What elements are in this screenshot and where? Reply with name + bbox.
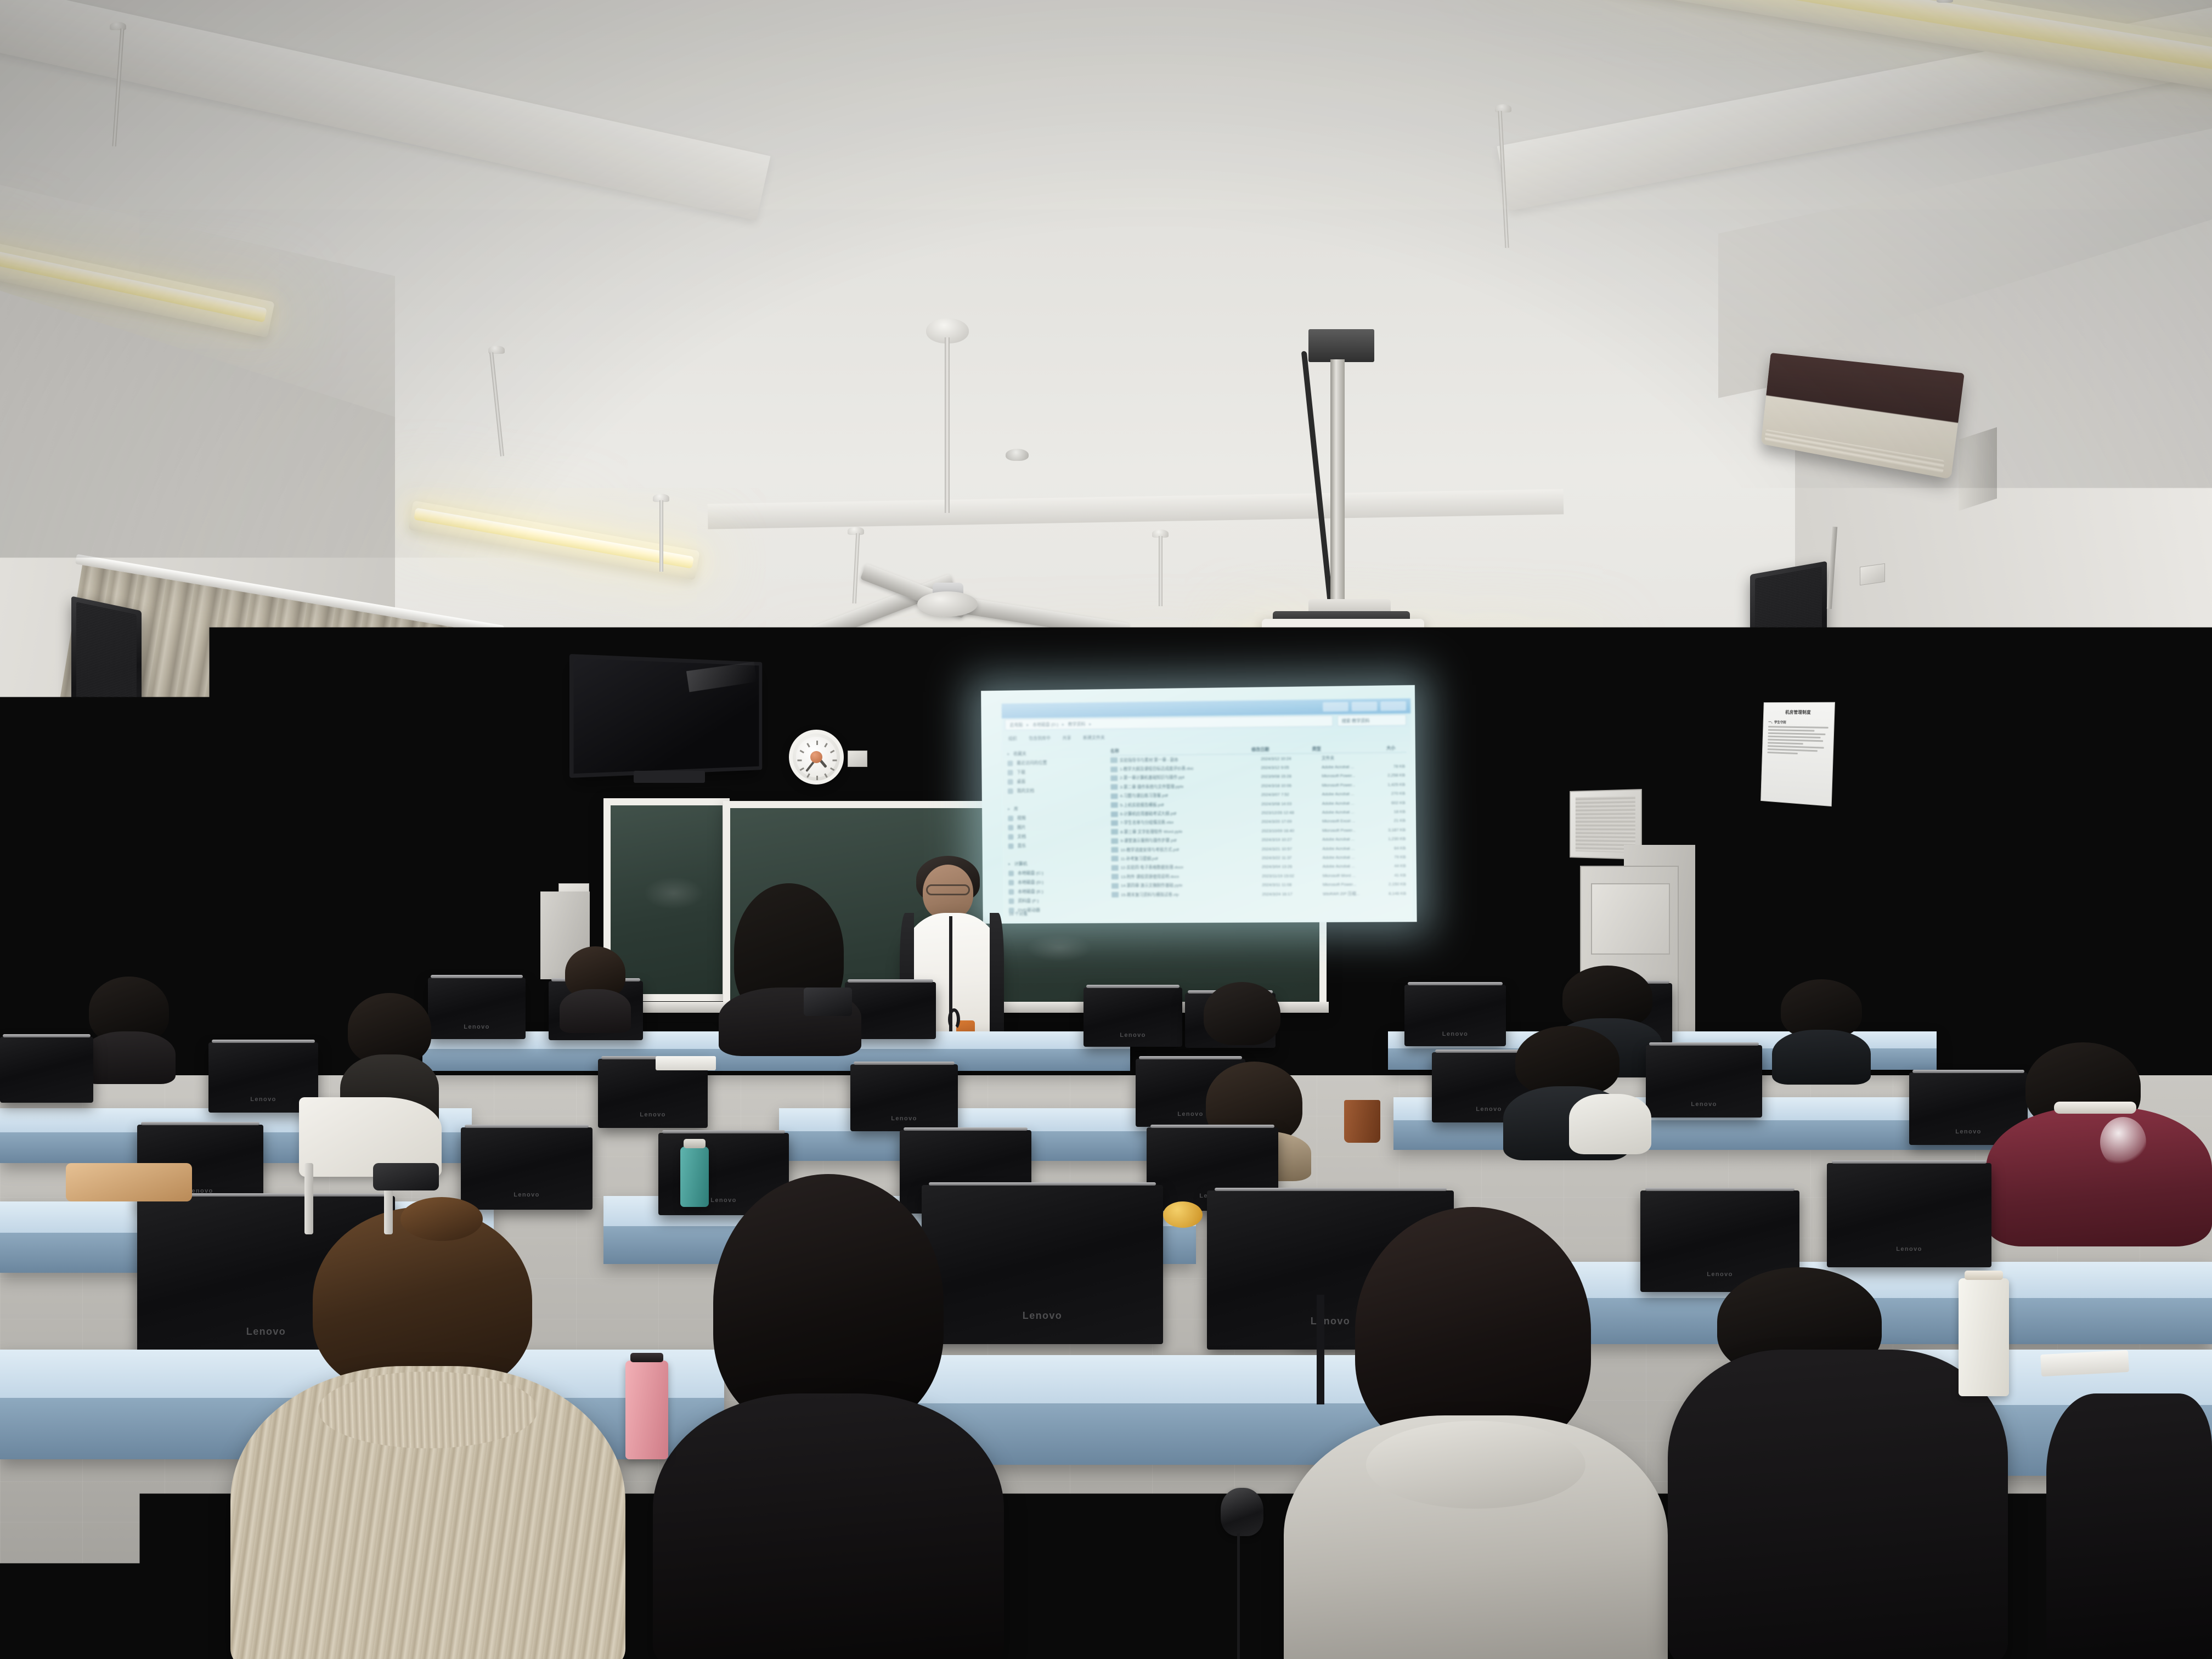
breadcrumb-separator: ▸ (1026, 722, 1029, 727)
nav-item-label[interactable]: 本地磁盘 (D:) (1018, 879, 1043, 885)
file-name: 4-习题与课后练习答案.pdf (1120, 792, 1261, 799)
file-size: 2,150 KB (1374, 882, 1406, 887)
toolbar-organize[interactable]: 组织 (1008, 735, 1017, 741)
chalk-smudge (1026, 934, 1092, 962)
monitor-brand-logo: Lenovo (250, 1096, 276, 1103)
file-icon (1111, 793, 1118, 799)
nav-libraries-label[interactable]: 库 (1014, 806, 1018, 812)
projection-screen: 此电脑 ▸ 本地磁盘 (D:) ▸ 教学资料 ▸ 搜索 教学资料 组织 包含到库… (981, 685, 1417, 924)
breadcrumb-separator: ▸ (1089, 721, 1091, 726)
close-button[interactable] (1380, 701, 1406, 711)
file-list-pane: 名称 修改日期 类型 大小 实验指导书与素材 第一章 - 副本2024/3/12… (1108, 741, 1413, 921)
wall-switch-plate (848, 751, 867, 767)
vent-louvers-icon (1576, 796, 1635, 853)
rod-cap-7 (1937, 0, 1953, 3)
nav-item-label[interactable]: 文档 (1017, 833, 1026, 839)
chalk-smudge (644, 877, 704, 910)
monitor-brand-logo: Lenovo (1476, 1106, 1502, 1113)
file-name: 9-课堂演示案例与操作步骤.pdf (1120, 837, 1262, 844)
fan-downrod (945, 337, 950, 513)
ac-mounting-bracket (1959, 427, 1997, 511)
poster-text-line (1768, 748, 1818, 752)
file-type: Adobe Acrobat ... (1323, 855, 1374, 860)
file-name: 7-学生名单与分组情况表.xlsx (1120, 819, 1262, 826)
paper-sheet (656, 1056, 716, 1070)
clock-center-cap (810, 751, 822, 763)
nav-item: 资料盘 (F:) (1009, 896, 1110, 906)
monitor-brand-logo: Lenovo (1691, 1101, 1717, 1108)
file-date: 2024/3/19 10:27 (1262, 837, 1323, 843)
file-size: 21 KB (1373, 818, 1406, 823)
monitor-brand-logo: Lenovo (1120, 1032, 1146, 1039)
file-size (1373, 757, 1405, 758)
file-icon (1110, 785, 1118, 790)
file-size: 602 KB (1373, 800, 1406, 805)
small-device (804, 988, 852, 1016)
hoodie-hood (1366, 1421, 1585, 1509)
explorer-body: ▸收藏夹 最近访问的位置 下载 桌面 我的文档 ▸库 视频 图片 文档 音乐 ▸… (1002, 741, 1412, 922)
bottle-cap[interactable] (1965, 1271, 2003, 1280)
keyboard-edge[interactable] (373, 1163, 439, 1190)
monitor-top-edge (212, 1040, 315, 1043)
poster-text-line (1768, 736, 1820, 738)
file-name: 14-第四章 演示文稿制作基础.pptx (1121, 882, 1262, 888)
nav-item: 下载 (1008, 767, 1109, 777)
file-size: 2,258 KB (1373, 773, 1405, 778)
file-date: 2024/3/08 14:03 (1261, 801, 1322, 806)
file-date: 2024/3/22 11:37 (1262, 855, 1323, 860)
pink-tumbler[interactable] (625, 1361, 668, 1459)
monitor-far-6: Lenovo (1404, 985, 1506, 1046)
folder-icon (1110, 758, 1118, 763)
student-right-front-edge (2046, 1393, 2212, 1659)
nav-item-label[interactable]: 桌面 (1017, 778, 1025, 785)
light-hanger-rod-3 (659, 500, 663, 572)
file-date: 2024/3/04 13:26 (1262, 864, 1323, 870)
file-name: 5-上机实验报告模板.pdf (1120, 801, 1262, 808)
file-size: 18 KB (1373, 809, 1406, 815)
file-type: Adobe Acrobat ... (1322, 764, 1373, 770)
chevron-right-icon[interactable]: ▸ (1008, 806, 1010, 811)
nav-item-label[interactable]: 本地磁盘 (C:) (1018, 870, 1043, 876)
nav-item: 本地磁盘 (E:) (1008, 887, 1109, 896)
chair-leg (304, 1163, 313, 1234)
monitor-mid-3: Lenovo (850, 1064, 958, 1131)
maximize-button[interactable] (1352, 702, 1378, 712)
monitor-top-edge (1649, 1042, 1758, 1046)
file-name: 11-补考复习提纲.pdf (1120, 855, 1262, 862)
smoke-detector-icon (1006, 449, 1029, 461)
jacket-collar-stripe (2054, 1102, 2136, 1114)
file-row[interactable]: 15-期末复习资料与模拟试卷.zip2024/3/24 16:17WinRAR … (1111, 889, 1408, 899)
monitor-top-edge (662, 1130, 785, 1133)
desktop-icon (1008, 779, 1013, 785)
poster-text-line (1768, 752, 1798, 754)
nav-item: 本地磁盘 (D:) (1008, 877, 1109, 887)
clock-tick (830, 768, 834, 771)
nav-favorites-label[interactable]: 收藏夹 (1013, 751, 1026, 757)
file-name: 13-附件 课程资源使用说明.docx (1121, 873, 1262, 880)
tan-pencil-case[interactable] (66, 1163, 192, 1201)
file-icon (1111, 811, 1118, 817)
monitor-top-edge (3, 1034, 91, 1037)
clock-tick (833, 760, 837, 761)
file-name: 实验指导书与素材 第一章 - 副本 (1120, 755, 1261, 763)
monitor-top-edge (1086, 985, 1179, 988)
file-type: Microsoft Power... (1322, 782, 1373, 788)
file-date: 2023/10/09 16:40 (1261, 828, 1322, 833)
student-top (82, 1031, 176, 1084)
wall-panel-left (496, 844, 538, 896)
monitor-top-edge (854, 1062, 955, 1065)
drive-e-icon (1008, 889, 1014, 894)
pictures-icon (1008, 825, 1013, 830)
wall-hook-bracket (1575, 667, 1635, 695)
nav-spacer (1008, 794, 1109, 804)
monitor-top-edge (1645, 1188, 1795, 1191)
file-icon (1110, 775, 1118, 781)
file-icon (1111, 883, 1119, 888)
tumbler-lid[interactable] (684, 1139, 706, 1148)
fan-hub (917, 591, 978, 617)
student-jacket (1772, 1030, 1871, 1085)
monitor-brand-logo: Lenovo (1896, 1246, 1922, 1252)
wall-speaker-right (1750, 561, 1827, 698)
file-date: 2024/3/21 10:57 (1262, 846, 1323, 851)
paper-sheet-right (2040, 1350, 2129, 1376)
monitor-front-6: Lenovo (1827, 1163, 1991, 1267)
file-date: 2023/11/19 15:02 (1262, 873, 1323, 878)
breadcrumb-separator: ▸ (1062, 721, 1064, 726)
nav-item-label[interactable]: 图片 (1017, 825, 1026, 831)
file-type: Microsoft Excel ... (1322, 819, 1373, 824)
nav-spacer (1008, 850, 1109, 859)
clock-tick (816, 776, 818, 780)
breadcrumb-1[interactable]: 本地磁盘 (D:) (1032, 721, 1058, 727)
student-back-left (719, 883, 861, 1048)
file-type: 文件夹 (1322, 754, 1373, 761)
file-size: 3,187 KB (1373, 827, 1406, 833)
small-wall-clock (1418, 724, 1442, 748)
file-type: Adobe Acrobat ... (1322, 791, 1373, 797)
student-top (560, 989, 631, 1033)
drive-d-icon (1008, 879, 1014, 885)
tumbler-lid[interactable] (630, 1353, 663, 1362)
monitor-mid-6: Lenovo (1646, 1045, 1762, 1118)
wall-clock (789, 730, 844, 785)
file-icon (1111, 892, 1119, 898)
student-dark-jacket (1668, 1350, 2008, 1659)
file-size: 64 KB (1373, 845, 1406, 850)
speaker-grill-icon (1755, 567, 1822, 692)
mouse-cable (1237, 1533, 1240, 1659)
file-name: 15-期末复习资料与模拟试卷.zip (1121, 891, 1262, 898)
monitor-top-edge (1139, 1056, 1242, 1059)
column-header-name[interactable]: 名称 (1110, 747, 1251, 754)
file-date: 2024/3/11 11:08 (1262, 882, 1323, 888)
monitor-top-edge (1150, 1125, 1274, 1128)
toolbar-share[interactable]: 共享 (1063, 735, 1071, 741)
clock-tick (824, 773, 828, 777)
wall-poster: 机房管理制度 一、学生守则 (1760, 702, 1835, 806)
file-size: 8,146 KB (1374, 891, 1406, 896)
clock-tick (798, 760, 802, 761)
nav-item: 最近访问的位置 (1007, 758, 1108, 768)
file-type: Microsoft Power... (1322, 773, 1373, 778)
clock-face (796, 737, 837, 777)
speaker-grill-icon (76, 602, 137, 720)
wall-outlet-plate-right[interactable] (1860, 563, 1885, 585)
student-mid-center (1196, 982, 1286, 1053)
monitor-brand-logo: Lenovo (464, 1024, 490, 1030)
nav-item: 桌面 (1008, 776, 1109, 787)
file-type: WinRAR ZIP 压缩... (1323, 890, 1374, 897)
file-type: Adobe Acrobat ... (1322, 845, 1373, 851)
nav-group-header: ▸计算机 (1008, 859, 1109, 868)
column-header-date[interactable]: 修改日期 (1251, 746, 1312, 753)
clock-tick (800, 750, 804, 754)
nav-item: 视频 (1008, 812, 1109, 822)
chevron-right-icon[interactable]: ▸ (1007, 752, 1009, 757)
documents-library-icon (1008, 834, 1014, 839)
clock-tick (830, 750, 834, 754)
file-rows-container: 实验指导书与素材 第一章 - 副本2024/3/12 10:24文件夹1-教学大… (1110, 753, 1408, 899)
student-front-left (230, 1207, 625, 1659)
clock-tick (816, 741, 818, 745)
brown-cup[interactable] (1344, 1100, 1380, 1143)
file-type: Adobe Acrobat ... (1322, 837, 1373, 842)
file-icon (1110, 766, 1118, 772)
file-date: 2024/3/18 10:06 (1261, 783, 1322, 788)
classroom-photo: 机房管理制度 一、学生守则 此电脑 ▸ 本地磁盘 (D:) (0, 0, 2212, 1659)
file-type: Microsoft Power... (1323, 882, 1374, 887)
monitor-brand-logo: Lenovo (640, 1111, 666, 1118)
search-box[interactable]: 搜索 教学资料 (1338, 714, 1407, 726)
breadcrumb-0[interactable]: 此电脑 (1010, 721, 1023, 727)
wall-tv[interactable] (569, 654, 762, 778)
nav-item-label[interactable]: 资料盘 (F:) (1018, 898, 1039, 904)
student-white-hood (1569, 1094, 1651, 1154)
breadcrumb-2[interactable]: 教学资料 (1068, 721, 1086, 727)
tv-wall-bracket (634, 771, 705, 783)
monitor-front-2: Lenovo (461, 1127, 592, 1210)
student-black-jacket (653, 1393, 1004, 1659)
file-size: 270 KB (1373, 791, 1405, 797)
monitor-top-edge (465, 1125, 589, 1128)
student-front-right (1284, 1207, 1668, 1659)
nav-item-label[interactable]: 下载 (1017, 769, 1025, 775)
videos-icon (1008, 815, 1013, 821)
monitor-top-edge (141, 1122, 259, 1125)
monitor-top-edge (904, 1127, 1028, 1131)
cable (1317, 1295, 1324, 1404)
file-name: 3-第二章 操作系统与文件管理.pptx (1120, 783, 1261, 790)
recent-icon (1007, 760, 1013, 766)
file-name: 10-教学进度安排与考核方式.pdf (1120, 846, 1262, 853)
sweater-turtleneck (318, 1372, 538, 1448)
student-right-maroon (1986, 1042, 2212, 1240)
file-explorer-window[interactable]: 此电脑 ▸ 本地磁盘 (D:) ▸ 教学资料 ▸ 搜索 教学资料 组织 包含到库… (1002, 698, 1413, 921)
clock-tick (806, 773, 810, 777)
projected-image: 此电脑 ▸ 本地磁盘 (D:) ▸ 教学资料 ▸ 搜索 教学资料 组织 包含到库… (981, 685, 1417, 924)
minimize-button[interactable] (1323, 702, 1348, 712)
jacket-logo-icon (2100, 1117, 2146, 1167)
file-date: 2024/3/12 9:05 (1261, 765, 1322, 770)
documents-icon (1008, 788, 1013, 794)
monitor-mid-edge (0, 1037, 93, 1103)
drive-c-icon (1008, 871, 1014, 876)
file-name: 12-实验四 电子表格数据处理.docx (1121, 864, 1262, 871)
light-hanger-rod-5 (1159, 536, 1163, 606)
column-header-size[interactable]: 大小 (1363, 745, 1396, 752)
projector-pole (1330, 359, 1345, 620)
toolbar-include-library[interactable]: 包含到库中 (1029, 735, 1051, 741)
monitor-brand-logo: Lenovo (1023, 1310, 1062, 1322)
poster-text-line (1768, 742, 1803, 744)
file-date: 2023/9/08 15:28 (1261, 774, 1322, 779)
file-date: 2024/3/12 10:24 (1261, 755, 1322, 761)
nav-item: 文档 (1008, 831, 1109, 841)
door-panel (1591, 883, 1670, 955)
file-icon (1111, 856, 1119, 861)
file-size: 1,425 KB (1373, 782, 1405, 787)
white-thermos-bottle[interactable] (1959, 1278, 2009, 1396)
file-type: Adobe Acrobat ... (1322, 800, 1373, 806)
monitor-top-edge (431, 975, 522, 978)
file-date: 2023/12/26 12:48 (1261, 810, 1322, 815)
poster-text-line (1768, 732, 1826, 735)
poster-text-line (1768, 729, 1815, 732)
glasses-icon (926, 884, 970, 895)
column-header-type[interactable]: 类型 (1312, 746, 1363, 752)
student-hair (348, 993, 431, 1064)
student-hair (1515, 1026, 1620, 1096)
nav-item-label[interactable]: 音乐 (1017, 843, 1026, 849)
drive-f-icon (1009, 898, 1014, 904)
downloads-icon (1008, 770, 1013, 775)
file-size: 44 KB (1374, 864, 1406, 868)
monitor-brand-logo: Lenovo (891, 1115, 917, 1122)
search-input[interactable]: 搜索 教学资料 (1342, 718, 1370, 724)
file-date: 2024/3/20 17:09 (1261, 819, 1322, 825)
jacket-trim-right (990, 913, 1004, 1037)
file-icon (1111, 820, 1118, 826)
status-bar: 16 个对象 (1009, 911, 1028, 917)
monitor-top-edge (1832, 1160, 1987, 1164)
file-date: 2024/3/24 16:17 (1262, 891, 1323, 896)
file-name: 1-教学大纲及课程目标达成度评价表.doc (1120, 765, 1261, 772)
file-size: 78 KB (1373, 764, 1405, 769)
clock-tick (800, 768, 804, 771)
hair-bun-top (400, 1197, 483, 1241)
file-size: 79 KB (1373, 854, 1406, 859)
lanyard-loop (948, 1008, 960, 1030)
student-right-4 (1668, 1267, 2008, 1659)
file-icon (1111, 829, 1118, 834)
student-left-edge (82, 977, 176, 1075)
clock-tick (806, 743, 810, 747)
wall-outlet-plate[interactable] (1522, 675, 1558, 697)
toolbar-new-folder[interactable]: 新建文件夹 (1083, 734, 1105, 740)
nav-group-header: ▸收藏夹 (1007, 748, 1108, 759)
nav-item-label[interactable]: 我的文档 (1017, 788, 1035, 794)
monitor-top-edge (1215, 1188, 1447, 1191)
file-name: 2-第一章计算机基础知识与操作.ppt (1120, 774, 1261, 781)
nav-item-label[interactable]: 最近访问的位置 (1017, 760, 1047, 766)
navigation-pane: ▸收藏夹 最近访问的位置 下载 桌面 我的文档 ▸库 视频 图片 文档 音乐 ▸… (1002, 744, 1109, 922)
file-icon (1111, 874, 1119, 879)
file-size: 1,230 KB (1373, 836, 1406, 842)
file-icon (1111, 838, 1118, 844)
student-hair (1204, 982, 1280, 1045)
nav-group-header: ▸库 (1008, 803, 1109, 813)
file-type: Adobe Acrobat ... (1323, 864, 1374, 869)
student-right-3 (1503, 1026, 1629, 1152)
file-date: 2024/3/07 7:52 (1261, 792, 1322, 797)
student-right-2 (1772, 979, 1871, 1078)
monitor-brand-logo: Lenovo (1955, 1128, 1982, 1135)
wall-speaker-left (71, 596, 142, 726)
file-icon (1111, 847, 1118, 853)
file-icon (1111, 865, 1119, 871)
file-type: Microsoft Power... (1322, 827, 1373, 833)
music-icon (1008, 843, 1014, 849)
orange-fruit (1163, 1201, 1203, 1228)
clock-tick (824, 743, 828, 747)
monitor-top-edge (1408, 982, 1503, 985)
monitor-brand-logo: Lenovo (1442, 1031, 1469, 1037)
nav-item: 音乐 (1008, 840, 1109, 850)
nav-computer-label[interactable]: 计算机 (1014, 861, 1028, 867)
file-type: Microsoft Word ... (1323, 873, 1374, 878)
file-name: 6-计算机应用基础考试大纲.pdf (1120, 810, 1262, 817)
poster-section-heading: 一、学生守则 (1768, 719, 1829, 725)
computer-mouse[interactable] (1221, 1488, 1263, 1536)
monitor-far-1: Lenovo (428, 978, 526, 1039)
monitor-far-4: Lenovo (1084, 988, 1182, 1047)
student-dark-top (2046, 1393, 2212, 1659)
projector-ceiling-mount (1308, 329, 1374, 362)
monitor-brand-logo: Lenovo (513, 1192, 540, 1198)
file-icon (1111, 802, 1118, 808)
teal-tumbler[interactable] (680, 1147, 709, 1207)
nav-item: 图片 (1008, 822, 1109, 832)
chevron-right-icon[interactable]: ▸ (1008, 861, 1011, 866)
file-type: Adobe Acrobat ... (1322, 809, 1373, 815)
poster-text-line (1768, 739, 1822, 742)
nav-item-label[interactable]: 本地磁盘 (E:) (1018, 889, 1043, 895)
file-size: 41 KB (1374, 872, 1406, 877)
student-maroon-jacket (1986, 1107, 2212, 1246)
poster-text-line (1768, 726, 1829, 729)
nav-item: 我的文档 (1008, 786, 1109, 796)
student-back-left-2 (560, 946, 631, 1029)
nav-item: 本地磁盘 (C:) (1008, 868, 1109, 878)
file-name: 8-第三章 文字处理软件 Word.pptx (1120, 828, 1262, 835)
student-front-center (653, 1174, 1004, 1659)
nav-item-label[interactable]: 视频 (1017, 815, 1026, 821)
poster-title: 机房管理制度 (1769, 709, 1829, 716)
